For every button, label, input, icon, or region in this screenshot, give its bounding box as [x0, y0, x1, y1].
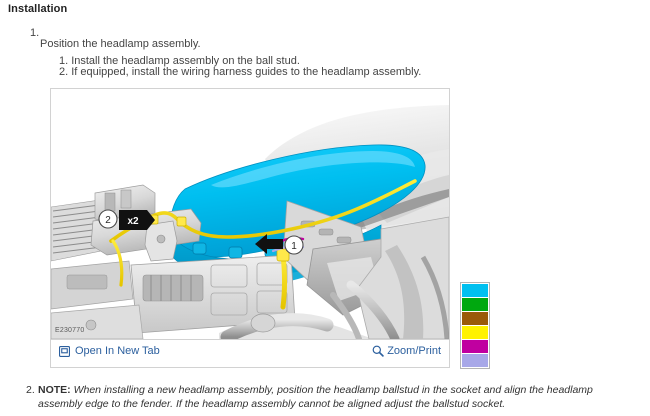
callout-1-label: 1	[291, 241, 297, 252]
headlamp-connector-pigtail	[283, 255, 285, 307]
magnifier-icon	[372, 345, 384, 357]
open-in-new-tab-button[interactable]: Open In New Tab	[59, 345, 160, 357]
open-in-new-tab-label: Open In New Tab	[75, 345, 160, 357]
callout-2-tag: x2	[127, 216, 139, 227]
callout-2-label: 2	[105, 215, 111, 226]
color-swatch-brown	[462, 312, 488, 326]
harness-guide-clip-2	[177, 217, 186, 226]
hose-clamp	[251, 314, 275, 332]
note-label: NOTE:	[38, 384, 71, 396]
note-text: When installing a new headlamp assembly,…	[38, 384, 593, 410]
color-swatch-magenta	[462, 340, 488, 354]
substep-2-text: If equipped, install the wiring harness …	[71, 66, 421, 78]
note-block: 2. NOTE: When installing a new headlamp …	[26, 383, 626, 411]
substep-2-marker: 2.	[59, 66, 68, 78]
callout-2: 2 x2	[99, 210, 155, 230]
substep-2: 2.If equipped, install the wiring harnes…	[59, 66, 421, 78]
step-1-marker: 1.	[30, 27, 39, 39]
color-swatch-light-purple	[462, 354, 488, 367]
figure-id: E230770	[55, 327, 84, 334]
new-tab-icon	[59, 346, 70, 357]
step-1-text: Position the headlamp assembly.	[40, 38, 201, 50]
color-swatch-cyan	[462, 284, 488, 298]
color-swatch-yellow	[462, 326, 488, 340]
note-marker: 2.	[26, 383, 35, 397]
note-body: NOTE: When installing a new headlamp ass…	[38, 383, 626, 411]
page-title: Installation	[8, 3, 67, 15]
illustration-panel: 2 x2 1 E230770 Open In New Tab	[50, 88, 450, 368]
zoom-print-button[interactable]: Zoom/Print	[372, 345, 441, 357]
color-key-legend	[460, 282, 490, 369]
color-swatch-green	[462, 298, 488, 312]
intercooler-duct	[143, 275, 203, 301]
ball-stud	[157, 235, 165, 243]
headlamp-assembly-illustration: 2 x2 1	[51, 89, 449, 339]
figure-footer: Open In New Tab Zoom/Print	[51, 339, 449, 367]
zoom-print-label: Zoom/Print	[387, 345, 441, 357]
illustration-canvas[interactable]: 2 x2 1	[51, 89, 449, 339]
